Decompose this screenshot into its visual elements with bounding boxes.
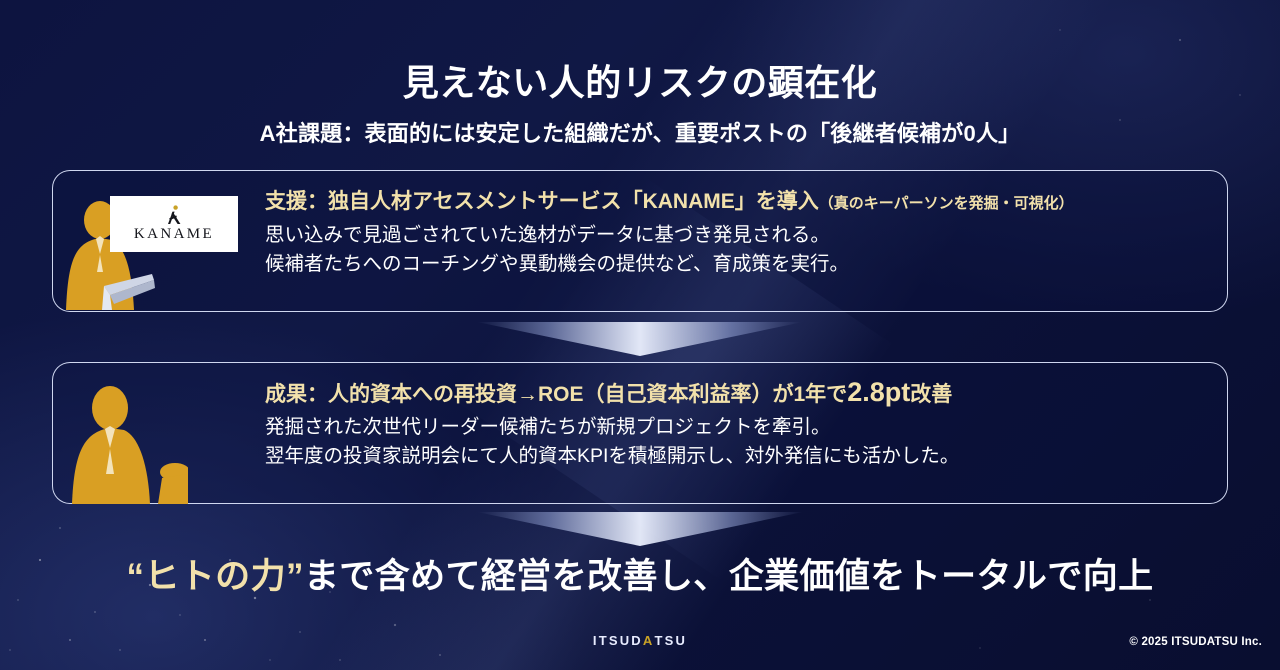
result-card-body: 発掘された次世代リーダー候補たちが新規プロジェクトを牽引。 翌年度の投資家説明会…	[265, 413, 1213, 471]
result-body-line-1: 発掘された次世代リーダー候補たちが新規プロジェクトを牽引。	[265, 413, 1213, 442]
page-subtitle: A社課題：表面的には安定した組織だが、重要ポストの「後継者候補が0人」	[0, 116, 1280, 148]
conclusion-highlight: “ヒトの力”	[126, 557, 303, 596]
support-card-heading: 支援：独自人材アセスメントサービス「KANAME」を導入（真のキーパーソンを発掘…	[265, 185, 1213, 215]
support-card-body: 思い込みで見過ごされていた逸材がデータに基づき発見される。 候補者たちへのコーチ…	[265, 221, 1213, 279]
flow-arrow-down-1	[477, 322, 803, 356]
support-heading-sub: （真のキーパーソンを発掘・可視化）	[819, 195, 1074, 212]
logo-text-part2: TSU	[654, 633, 687, 648]
result-body-line-2: 翌年度の投資家説明会にて人的資本KPIを積極開示し、対外発信にも活かした。	[265, 442, 1213, 471]
result-heading-main: 成果：人的資本への再投資→ROE（自己資本利益率）が1年で	[265, 383, 847, 406]
copyright-text: © 2025 ITSUDATSU Inc.	[1129, 636, 1262, 648]
result-card-heading: 成果：人的資本への再投資→ROE（自己資本利益率）が1年で2.8pt改善	[265, 377, 1213, 408]
conclusion-banner: “ヒトの力”まで含めて経営を改善し、企業価値をトータルで向上	[0, 548, 1280, 599]
flow-arrow-down-2	[477, 512, 803, 546]
logo-text-part1: ITSUD	[593, 633, 643, 648]
conclusion-rest: まで含めて経営を改善し、企業価値をトータルで向上	[304, 557, 1154, 596]
result-heading-metric: 2.8pt	[847, 377, 910, 407]
kaname-logo: KANAME	[110, 196, 238, 252]
page-title: 見えない人的リスクの顕在化	[0, 54, 1280, 106]
logo-a-mark-icon: A	[643, 633, 655, 648]
support-body-line-2: 候補者たちへのコーチングや異動機会の提供など、育成策を実行。	[265, 250, 1213, 279]
slide-canvas: 見えない人的リスクの顕在化 A社課題：表面的には安定した組織だが、重要ポストの「…	[0, 0, 1280, 670]
kaname-mark-icon	[163, 205, 185, 225]
itsudatsu-logo: ITSUDATSU	[0, 633, 1280, 648]
support-body-line-1: 思い込みで見過ごされていた逸材がデータに基づき発見される。	[265, 221, 1213, 250]
result-card: 成果：人的資本への再投資→ROE（自己資本利益率）が1年で2.8pt改善 発掘さ…	[52, 362, 1228, 504]
result-heading-tail: 改善	[910, 383, 952, 406]
support-heading-main: 支援：独自人材アセスメントサービス「KANAME」を導入	[265, 190, 819, 213]
person-presenting-illustration	[58, 382, 188, 504]
kaname-wordmark: KANAME	[134, 226, 214, 243]
